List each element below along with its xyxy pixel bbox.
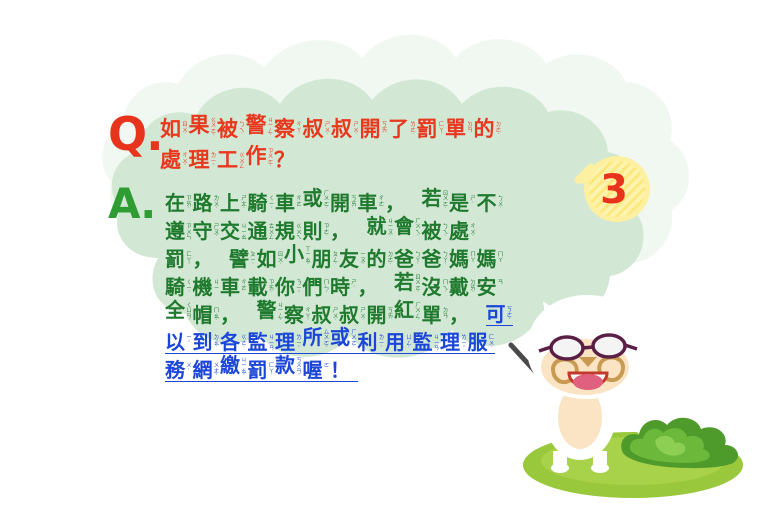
answer-line: 騎ㄑㄧˊ機ㄐㄧ車ㄔㄜ載ㄗㄞˋ你ㄋㄧˇ們ㄇㄣ˙時ㄕˊ，若ㄖㄨㄛˋ沒ㄇㄟˊ戴ㄉㄞˋ安…: [165, 270, 513, 298]
ruby-base: 你: [275, 276, 295, 298]
ruby-char: 理ㄌㄧˇ: [275, 331, 303, 353]
ruby-base: 叔: [303, 118, 324, 141]
ruby-char: 或ㄏㄨㄛˋ: [303, 187, 331, 214]
ruby-char: 們ㄇㄣ˙: [303, 276, 331, 298]
answer-line: 遵ㄗㄨㄣ守ㄕㄡˇ交ㄐㄧㄠ通ㄊㄨㄥ規ㄍㄨㄟ則ㄗㄜˊ，就ㄐㄧㄡˋ會ㄏㄨㄟˋ被ㄅㄟˋ處…: [165, 214, 513, 242]
zhuyin-annotation: ㄏㄨㄥˊ: [415, 299, 422, 326]
ruby-char: 你ㄋㄧˇ: [275, 276, 303, 298]
illustration-canvas: Q. 如ㄖㄨˊ果ㄍㄨㄛˇ被ㄅㄟˋ警ㄐㄧㄥˇ察ㄔㄚˊ叔ㄕㄨˊ叔ㄕㄨˊ開ㄎㄞ了ㄌㄜ˙…: [0, 0, 760, 510]
ruby-base: 開: [360, 118, 381, 141]
ruby-char: 理ㄌㄧˇ: [440, 331, 468, 353]
ruby-base: 車: [220, 276, 240, 298]
zhuyin-annotation: ㄆㄥˊ: [332, 248, 339, 270]
zhuyin-annotation: ㄗㄜˊ: [323, 220, 330, 242]
zhuyin-annotation: ㄖㄨˊ: [182, 118, 189, 140]
ruby-base: 監: [413, 331, 433, 353]
zhuyin-annotation: ㄎㄞ: [351, 192, 358, 208]
ruby-base: 在: [165, 192, 185, 214]
zhuyin-annotation: ㄌㄨˋ: [213, 192, 220, 214]
ruby-base: 各: [220, 331, 240, 353]
ruby-char: 叔ㄕㄨˊ: [331, 118, 360, 141]
ruby-base: 察: [274, 118, 295, 141]
ruby-base: 作: [246, 145, 267, 168]
answer-hyperlink[interactable]: 務ㄨˋ網ㄨㄤˇ繳ㄐㄧㄠˇ罰ㄈㄚˊ款ㄎㄨㄢˇ喔ㄛ！: [165, 354, 358, 382]
zhuyin-annotation: ㄎㄞ: [387, 304, 394, 320]
zhuyin-annotation: ㄏㄨㄟˋ: [415, 215, 422, 242]
ruby-base: 服: [468, 331, 488, 353]
zhuyin-annotation: ㄗㄞˋ: [268, 276, 275, 298]
ruby-base: 們: [303, 276, 323, 298]
ruby-base: 繳: [220, 354, 240, 376]
ruby-char: 開ㄎㄞ: [360, 118, 389, 141]
ruby-char: 作ㄗㄨㄛˋ: [246, 145, 275, 172]
ruby-char: 單ㄉㄢ: [445, 118, 474, 141]
ruby-base: 了: [388, 118, 409, 141]
ruby-base: ！: [330, 359, 350, 381]
zhuyin-annotation: ㄐㄧㄢ: [433, 331, 440, 353]
ruby-char: 騎ㄑㄧˊ: [165, 276, 193, 298]
zhuyin-annotation: ㄐㄧㄥˇ: [267, 114, 274, 141]
ruby-char: 上ㄕㄤˋ: [220, 192, 248, 214]
ruby-base: 款: [275, 354, 295, 376]
zhuyin-annotation: ㄈㄨˊ: [488, 331, 495, 353]
ruby-char: 到ㄉㄠˋ: [193, 331, 221, 353]
ruby-base: 通: [248, 220, 268, 242]
ruby-base: 警: [246, 114, 267, 137]
zhuyin-annotation: ㄋㄧˇ: [296, 276, 303, 298]
ruby-base: 或: [303, 187, 323, 209]
ruby-char: 如ㄖㄨˊ: [160, 118, 189, 141]
zhuyin-annotation: ㄒㄧㄠˇ: [305, 243, 312, 270]
ruby-base: 監: [248, 331, 268, 353]
zhuyin-annotation: ㄩㄥˋ: [406, 331, 413, 353]
ruby-char: 網ㄨㄤˇ: [193, 359, 221, 381]
ruby-base: 路: [193, 192, 213, 214]
ruby-char: 以ㄧˇ: [165, 331, 193, 353]
ruby-char: ，: [449, 304, 477, 326]
zhuyin-annotation: ㄅㄨˋ: [497, 192, 504, 214]
zhuyin-annotation: ㄐㄧㄡˋ: [387, 215, 394, 242]
zhuyin-annotation: ㄉㄠˋ: [213, 331, 220, 353]
ruby-char: 是ㄕˋ: [449, 192, 477, 214]
ruby-base: 譬: [229, 248, 249, 270]
ruby-char: 開ㄎㄞ: [367, 304, 395, 326]
ruby-char: 叔ㄕㄨˊ: [312, 304, 340, 326]
ruby-char: 利ㄌㄧˋ: [358, 331, 386, 353]
ruby-char: 的ㄉㄜ˙: [474, 118, 503, 141]
ruby-base: 帽: [193, 304, 213, 326]
zhuyin-annotation: ㄇㄚ: [470, 248, 477, 264]
ruby-char: 叔ㄕㄨˊ: [339, 304, 367, 326]
zhuyin-annotation: ㄕㄨˊ: [324, 118, 331, 140]
ruby-char: 處ㄔㄨˇ: [160, 149, 189, 172]
zhuyin-annotation: ㄧㄡˇ: [360, 248, 367, 270]
ruby-base: ，: [358, 276, 378, 298]
ruby-char: ，: [358, 276, 386, 298]
ruby-base: 用: [385, 331, 405, 353]
ruby-base: 車: [358, 192, 378, 214]
zhuyin-annotation: ㄔㄜ: [241, 276, 248, 292]
ruby-char: 各ㄍㄜˋ: [220, 331, 248, 353]
zhuyin-annotation: [213, 248, 220, 253]
ruby-base: ，: [193, 248, 213, 270]
ruby-char: 了ㄌㄜ˙: [388, 118, 417, 141]
ruby-base: 理: [189, 149, 210, 172]
ruby-base: 守: [193, 220, 213, 242]
ruby-char: 單ㄉㄢ: [422, 304, 450, 326]
zhuyin-annotation: ㄊㄨㄥ: [268, 220, 275, 242]
ruby-base: 友: [339, 248, 359, 270]
ruby-char: 監ㄐㄧㄢ: [413, 331, 441, 353]
ruby-char: 理ㄌㄧˇ: [189, 149, 218, 172]
zhuyin-annotation: ㄉㄢ: [467, 118, 474, 134]
question-line: 處ㄔㄨˇ理ㄌㄧˇ工ㄍㄨㄥ作ㄗㄨㄛˋ？: [160, 141, 502, 172]
zhuyin-annotation: ㄑㄧˊ: [268, 192, 275, 214]
ruby-base: 喔: [303, 359, 323, 381]
zhuyin-annotation: ㄍㄨㄟ: [296, 220, 303, 242]
ruby-base: 叔: [312, 304, 332, 326]
ruby-base: 開: [330, 192, 350, 214]
ruby-base: 單: [445, 118, 466, 141]
zhuyin-annotation: ㄐㄧㄠ: [241, 220, 248, 242]
zhuyin-annotation: ㄌㄧˇ: [296, 331, 303, 353]
ruby-base: ，: [385, 192, 405, 214]
ruby-base: 朋: [312, 248, 332, 270]
ruby-base: 或: [330, 326, 350, 348]
ruby-base: 理: [275, 331, 295, 353]
ruby-char: 沒ㄇㄟˊ: [422, 276, 450, 298]
ruby-char: 叔ㄕㄨˊ: [303, 118, 332, 141]
ruby-char: 車ㄔㄜ: [220, 276, 248, 298]
ruby-char: 守ㄕㄡˇ: [193, 220, 221, 242]
ruby-base: 利: [358, 331, 378, 353]
zhuyin-annotation: ㄍㄨㄥ: [239, 149, 246, 171]
ruby-char: 交ㄐㄧㄠ: [220, 220, 248, 242]
ruby-base: 若: [422, 187, 442, 209]
zhuyin-annotation: ㄉㄜ˙: [387, 248, 394, 270]
zhuyin-annotation: ㄑㄩㄢˊ: [186, 299, 193, 326]
ruby-base: ？: [274, 149, 295, 172]
ruby-char: 路ㄌㄨˋ: [193, 192, 221, 214]
ruby-char: 被ㄅㄟˋ: [422, 220, 450, 242]
ruby-base: 被: [422, 220, 442, 242]
ruby-base: 理: [440, 331, 460, 353]
ruby-char: 規ㄍㄨㄟ: [275, 220, 303, 242]
ruby-char: 罰ㄈㄚˊ: [417, 118, 446, 141]
ruby-base: 網: [193, 359, 213, 381]
ruby-base: 罰: [165, 248, 185, 270]
ruby-char: 時ㄕˊ: [330, 276, 358, 298]
ruby-char: 不ㄅㄨˋ: [477, 192, 505, 214]
zhuyin-annotation: ㄕˋ: [470, 192, 477, 208]
ruby-char: 朋ㄆㄥˊ: [312, 248, 340, 270]
zhuyin-annotation: ㄗㄨㄛˋ: [267, 145, 274, 172]
ruby-base: 開: [367, 304, 387, 326]
zhuyin-annotation: [406, 192, 413, 197]
zhuyin-annotation: ㄐㄧ: [213, 276, 220, 292]
ruby-base: 車: [275, 192, 295, 214]
ruby-base: 爸: [394, 248, 414, 270]
zhuyin-annotation: ㄅㄚˋ: [442, 248, 449, 270]
zhuyin-annotation: ㄌㄜ˙: [410, 118, 417, 140]
ruby-char: ，: [330, 220, 358, 242]
answer-line: 全ㄑㄩㄢˊ帽ㄇㄠˋ，警ㄐㄧㄥˇ察ㄔㄚˊ叔ㄕㄨˊ叔ㄕㄨˊ開ㄎㄞ紅ㄏㄨㄥˊ單ㄉㄢ，可…: [165, 298, 513, 326]
zhuyin-annotation: ㄖㄨㄛˋ: [415, 271, 422, 298]
answer-line: 罰ㄈㄚˊ，譬ㄆㄧˋ如ㄖㄨˊ小ㄒㄧㄠˇ朋ㄆㄥˊ友ㄧㄡˇ的ㄉㄜ˙爸ㄅㄚˋ爸ㄅㄚˋ媽ㄇ…: [165, 242, 513, 270]
zhuyin-annotation: ㄍㄨㄛˇ: [210, 114, 217, 141]
ruby-base: ，: [220, 304, 240, 326]
ruby-base: 若: [394, 271, 414, 293]
ruby-char: 若ㄖㄨㄛˋ: [394, 271, 422, 298]
ruby-base: 是: [449, 192, 469, 214]
zhuyin-annotation: ㄔㄨˇ: [182, 149, 189, 171]
zhuyin-annotation: ㄔㄨˇ: [470, 220, 477, 242]
zhuyin-annotation: [378, 276, 385, 281]
question-marker: Q.: [108, 111, 163, 157]
ruby-base: 所: [303, 326, 323, 348]
zhuyin-annotation: ㄌㄧˋ: [378, 331, 385, 353]
ruby-char: 監ㄐㄧㄢ: [248, 331, 276, 353]
ruby-char: 或ㄏㄨㄛˋ: [330, 326, 358, 353]
zhuyin-annotation: ㄈㄚˊ: [268, 359, 275, 381]
zhuyin-annotation: ㄔㄜ: [378, 192, 385, 208]
ruby-base: 可: [486, 303, 506, 325]
ruby-char: 若ㄖㄨㄛˋ: [422, 187, 450, 214]
ruby-char: 款ㄎㄨㄢˇ: [275, 354, 303, 381]
ruby-base: 安: [477, 276, 497, 298]
zhuyin-annotation: ㄏㄨㄛˋ: [323, 187, 330, 214]
badge-number: 3: [572, 150, 654, 228]
ruby-char: 警ㄐㄧㄥˇ: [246, 114, 275, 141]
ruby-base: 爸: [422, 248, 442, 270]
ruby-base: 騎: [248, 192, 268, 214]
ruby-base: 的: [367, 248, 387, 270]
ruby-char: 帽ㄇㄠˋ: [193, 304, 221, 326]
ruby-base: 到: [193, 331, 213, 353]
zhuyin-annotation: ㄇㄣ˙: [323, 276, 330, 298]
ruby-char: ，: [385, 192, 413, 214]
cat-head: [527, 295, 647, 399]
ruby-base: 戴: [449, 276, 469, 298]
ruby-char: ！: [330, 359, 358, 381]
ruby-char: 小ㄒㄧㄠˇ: [284, 243, 312, 270]
ruby-char: ，: [193, 248, 221, 270]
zhuyin-annotation: ㄔㄜ: [296, 192, 303, 208]
ruby-base: 沒: [422, 276, 442, 298]
ruby-base: 果: [189, 114, 210, 137]
zhuyin-annotation: ㄧˇ: [186, 331, 193, 347]
ruby-base: 工: [217, 149, 238, 172]
ruby-char: 爸ㄅㄚˋ: [422, 248, 450, 270]
ruby-base: 處: [160, 149, 181, 172]
ruby-base: 則: [303, 220, 323, 242]
ruby-char: 果ㄍㄨㄛˇ: [189, 114, 218, 141]
ruby-char: 媽ㄇㄚ: [449, 248, 477, 270]
ruby-char: 媽ㄇㄚ: [477, 248, 505, 270]
zhuyin-annotation: ㄈㄚˊ: [186, 248, 193, 270]
ruby-char: 則ㄗㄜˊ: [303, 220, 331, 242]
answer-line: 在ㄗㄞˋ路ㄌㄨˋ上ㄕㄤˋ騎ㄑㄧˊ車ㄔㄜ或ㄏㄨㄛˋ開ㄎㄞ車ㄔㄜ，若ㄖㄨㄛˋ是ㄕˋ不…: [165, 186, 513, 214]
number-badge: 3: [572, 150, 654, 228]
zhuyin-annotation: ㄕㄨˊ: [332, 304, 339, 326]
ruby-base: 單: [422, 304, 442, 326]
ruby-base: 被: [217, 118, 238, 141]
ruby-char: 察ㄔㄚˊ: [274, 118, 303, 141]
ruby-char: 遵ㄗㄨㄣ: [165, 220, 193, 242]
ruby-base: ，: [449, 304, 469, 326]
ruby-char: ？: [274, 149, 303, 172]
zhuyin-annotation: [351, 359, 358, 364]
ruby-char: 務ㄨˋ: [165, 359, 193, 381]
zhuyin-annotation: ㄕㄨˊ: [360, 304, 367, 326]
ruby-base: 以: [165, 331, 185, 353]
zhuyin-annotation: ㄛ: [323, 359, 330, 370]
zhuyin-annotation: ㄎㄞ: [381, 118, 388, 134]
zhuyin-annotation: ㄐㄧㄢ: [268, 331, 275, 353]
ruby-char: 安ㄢ: [477, 276, 505, 298]
ruby-char: 載ㄗㄞˋ: [248, 276, 276, 298]
ruby-base: ，: [330, 220, 350, 242]
zhuyin-annotation: ㄨˋ: [186, 359, 193, 375]
zhuyin-annotation: ㄇㄟˊ: [442, 276, 449, 298]
ruby-base: 如: [257, 248, 277, 270]
ruby-char: 友ㄧㄡˇ: [339, 248, 367, 270]
zhuyin-annotation: ㄢ: [497, 276, 504, 287]
ruby-char: 所ㄙㄨㄛˇ: [303, 326, 331, 353]
ruby-char: 如ㄖㄨˊ: [257, 248, 285, 270]
zhuyin-annotation: ㄗㄞˋ: [186, 192, 193, 214]
ruby-base: 就: [367, 215, 387, 237]
ruby-char: 騎ㄑㄧˊ: [248, 192, 276, 214]
zhuyin-annotation: ㄌㄧˇ: [210, 149, 217, 171]
ruby-base: 務: [165, 359, 185, 381]
answer-text: 在ㄗㄞˋ路ㄌㄨˋ上ㄕㄤˋ騎ㄑㄧˊ車ㄔㄜ或ㄏㄨㄛˋ開ㄎㄞ車ㄔㄜ，若ㄖㄨㄛˋ是ㄕˋ不…: [165, 186, 513, 382]
zhuyin-annotation: ㄍㄜˋ: [241, 331, 248, 353]
ruby-char: ，: [220, 304, 248, 326]
ruby-char: 罰ㄈㄚˊ: [165, 248, 193, 270]
zhuyin-annotation: ㄅㄟˋ: [442, 220, 449, 242]
ruby-base: 交: [220, 220, 240, 242]
zhuyin-annotation: ㄇㄠˋ: [213, 304, 220, 326]
ruby-char: 戴ㄉㄞˋ: [449, 276, 477, 298]
ruby-char: 警ㄐㄧㄥˇ: [257, 299, 285, 326]
ruby-base: 媽: [449, 248, 469, 270]
question-line: 如ㄖㄨˊ果ㄍㄨㄛˇ被ㄅㄟˋ警ㄐㄧㄥˇ察ㄔㄚˊ叔ㄕㄨˊ叔ㄕㄨˊ開ㄎㄞ了ㄌㄜ˙罰ㄈㄚ…: [160, 110, 502, 141]
mascot-cat-illustration: [505, 265, 760, 510]
zhuyin-annotation: ㄕㄡˇ: [213, 220, 220, 242]
zhuyin-annotation: ㄖㄨˊ: [277, 248, 284, 270]
zhuyin-annotation: ㄐㄧㄥˇ: [277, 299, 284, 326]
ruby-char: 紅ㄏㄨㄥˊ: [394, 299, 422, 326]
ruby-base: 載: [248, 276, 268, 298]
ruby-char: 察ㄔㄚˊ: [284, 304, 312, 326]
ruby-base: 不: [477, 192, 497, 214]
ruby-base: 上: [220, 192, 240, 214]
ruby-base: 警: [257, 299, 277, 321]
zhuyin-annotation: ㄨㄤˇ: [213, 359, 220, 381]
ruby-char: 喔ㄛ: [303, 359, 331, 381]
zhuyin-annotation: ㄅㄟˋ: [239, 118, 246, 140]
ruby-char: 爸ㄅㄚˋ: [394, 248, 422, 270]
ruby-base: 罰: [417, 118, 438, 141]
ruby-char: 譬ㄆㄧˋ: [229, 248, 257, 270]
ruby-char: 繳ㄐㄧㄠˇ: [220, 354, 248, 381]
ruby-char: 會ㄏㄨㄟˋ: [394, 215, 422, 242]
zhuyin-annotation: ㄉㄢ: [442, 304, 449, 320]
ruby-base: 規: [275, 220, 295, 242]
ruby-base: 罰: [248, 359, 268, 381]
zhuyin-annotation: ㄕㄨˊ: [353, 118, 360, 140]
ruby-char: 開ㄎㄞ: [330, 192, 358, 214]
answer-link-line[interactable]: 以ㄧˇ到ㄉㄠˋ各ㄍㄜˋ監ㄐㄧㄢ理ㄌㄧˇ所ㄙㄨㄛˇ或ㄏㄨㄛˋ利ㄌㄧˋ用ㄩㄥˋ監ㄐㄧ…: [165, 326, 513, 354]
zhuyin-annotation: ㄉㄜ˙: [495, 118, 502, 140]
zhuyin-annotation: ㄇㄚ: [497, 248, 504, 264]
ruby-base: 如: [160, 118, 181, 141]
ruby-char: 服ㄈㄨˊ: [468, 331, 496, 353]
ruby-base: 的: [474, 118, 495, 141]
ruby-base: 媽: [477, 248, 497, 270]
zhuyin-annotation: [351, 220, 358, 225]
zhuyin-annotation: ㄅㄚˋ: [415, 248, 422, 270]
ruby-char: 罰ㄈㄚˊ: [248, 359, 276, 381]
ruby-base: 叔: [339, 304, 359, 326]
zhuyin-annotation: ㄖㄨㄛˋ: [442, 187, 449, 214]
ruby-char: 車ㄔㄜ: [275, 192, 303, 214]
ruby-base: 紅: [394, 299, 414, 321]
zhuyin-annotation: ㄔㄚˊ: [305, 304, 312, 326]
zhuyin-annotation: ㄉㄞˋ: [470, 276, 477, 298]
zhuyin-annotation: ㄐㄧㄠˇ: [241, 354, 248, 381]
ruby-char: 的ㄉㄜ˙: [367, 248, 395, 270]
ruby-base: 機: [193, 276, 213, 298]
zhuyin-annotation: ㄙㄨㄛˇ: [323, 326, 330, 353]
zhuyin-annotation: ㄕˊ: [351, 276, 358, 292]
answer-hyperlink[interactable]: 以ㄧˇ到ㄉㄠˋ各ㄍㄜˋ監ㄐㄧㄢ理ㄌㄧˇ所ㄙㄨㄛˇ或ㄏㄨㄛˋ利ㄌㄧˋ用ㄩㄥˋ監ㄐㄧ…: [165, 326, 495, 354]
zhuyin-annotation: ㄏㄨㄛˋ: [351, 326, 358, 353]
answer-marker: A.: [108, 183, 155, 225]
ruby-char: 車ㄔㄜ: [358, 192, 386, 214]
ruby-base: 騎: [165, 276, 185, 298]
ruby-base: 會: [394, 215, 414, 237]
ruby-char: 處ㄔㄨˇ: [449, 220, 477, 242]
ruby-char: 就ㄐㄧㄡˋ: [367, 215, 395, 242]
ruby-base: 察: [284, 304, 304, 326]
question-text: 如ㄖㄨˊ果ㄍㄨㄛˇ被ㄅㄟˋ警ㄐㄧㄥˇ察ㄔㄚˊ叔ㄕㄨˊ叔ㄕㄨˊ開ㄎㄞ了ㄌㄜ˙罰ㄈㄚ…: [160, 110, 502, 172]
zhuyin-annotation: ㄗㄨㄣ: [186, 220, 193, 242]
zhuyin-annotation: ㄎㄨㄢˇ: [296, 354, 303, 381]
zhuyin-annotation: ㄆㄧˋ: [250, 248, 257, 270]
ruby-base: 叔: [331, 118, 352, 141]
zhuyin-annotation: ㄕㄤˋ: [241, 192, 248, 214]
ruby-base: 處: [449, 220, 469, 242]
zhuyin-annotation: [241, 304, 248, 309]
answer-link-line[interactable]: 務ㄨˋ網ㄨㄤˇ繳ㄐㄧㄠˇ罰ㄈㄚˊ款ㄎㄨㄢˇ喔ㄛ！: [165, 354, 513, 382]
zhuyin-annotation: ㄌㄧˇ: [461, 331, 468, 353]
ruby-char: 全ㄑㄩㄢˊ: [165, 299, 193, 326]
zhuyin-annotation: [470, 304, 477, 309]
zhuyin-annotation: ㄔㄚˊ: [296, 118, 303, 140]
ruby-base: 小: [284, 243, 304, 265]
ruby-char: 用ㄩㄥˋ: [385, 331, 413, 353]
zhuyin-annotation: [296, 149, 303, 154]
ruby-char: 機ㄐㄧ: [193, 276, 221, 298]
ruby-base: 時: [330, 276, 350, 298]
zhuyin-annotation: ㄈㄚˊ: [438, 118, 445, 140]
ruby-char: 工ㄍㄨㄥ: [217, 149, 246, 172]
zhuyin-annotation: ㄑㄧˊ: [186, 276, 193, 298]
ruby-char: 在ㄗㄞˋ: [165, 192, 193, 214]
ruby-base: 全: [165, 299, 185, 321]
